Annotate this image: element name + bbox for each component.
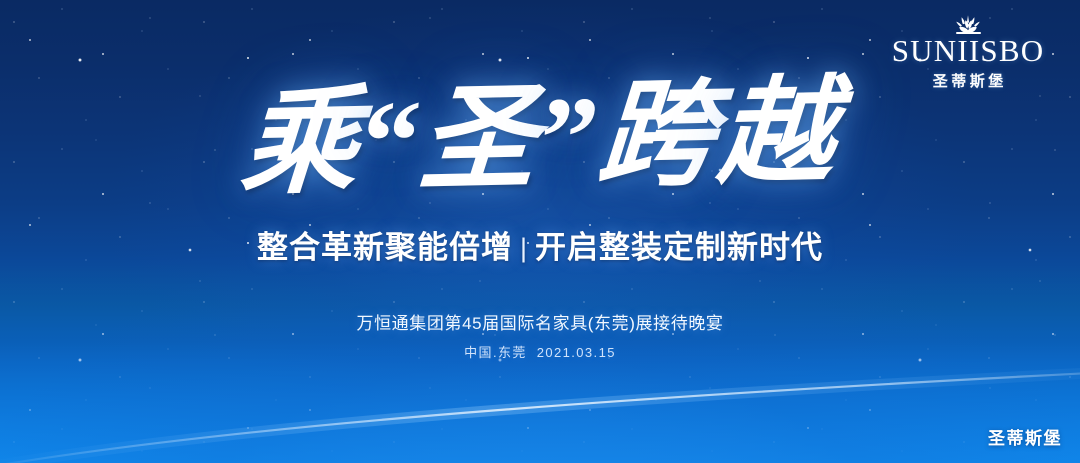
title-char-3: 跨 xyxy=(594,71,723,201)
subtitle: 整合革新聚能倍增|开启整装定制新时代 xyxy=(0,228,1080,268)
title-open-quote: “ xyxy=(357,78,424,207)
subtitle-left: 整合革新聚能倍增 xyxy=(257,230,513,265)
logo-wordmark-tied: II xyxy=(957,35,980,66)
corner-brand: 圣蒂斯堡 xyxy=(988,424,1062,449)
page-title: 乘“圣”跨越 xyxy=(237,72,842,207)
event-banner: SUNIISBO 圣蒂斯堡 乘“圣”跨越 整合革新聚能倍增|开启整装定制新时代 … xyxy=(0,0,1080,463)
title-close-quote: ” xyxy=(536,74,603,203)
event-location: 中国.东莞 xyxy=(464,345,527,360)
title-char-2: 圣 xyxy=(416,75,545,205)
lotus-sunburst-icon xyxy=(951,14,985,34)
logo-wordmark-part1: SUN xyxy=(892,33,958,68)
event-meta: 中国.东莞2021.03.15 xyxy=(0,344,1080,362)
title-char-1: 乘 xyxy=(237,79,366,209)
title-char-4: 越 xyxy=(714,69,843,199)
event-name: 万恒通集团第45届国际名家具(东莞)展接待晚宴 xyxy=(0,312,1080,336)
subtitle-right: 开启整装定制新时代 xyxy=(535,230,823,265)
event-date: 2021.03.15 xyxy=(537,345,616,360)
logo-wordmark: SUNIISBO xyxy=(882,35,1054,66)
headline-block: 乘“圣”跨越 xyxy=(0,78,1080,201)
subtitle-separator: | xyxy=(520,231,528,266)
logo-wordmark-part2: SBO xyxy=(980,33,1044,68)
